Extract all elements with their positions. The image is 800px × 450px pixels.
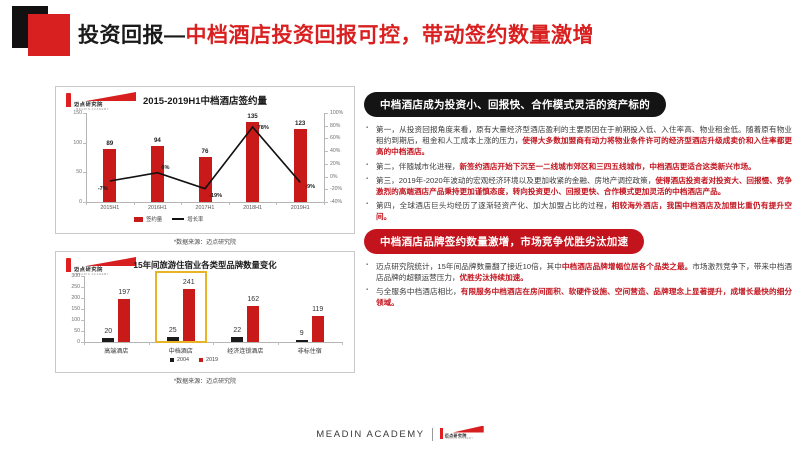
chart2-y-ticklabel: 150 xyxy=(60,306,80,312)
chart2-bar-2019 xyxy=(118,299,130,342)
chart1-y-tick-right xyxy=(325,164,328,165)
page-title: 投资回报—中档酒店投资回报可控，带动签约数量激增 xyxy=(78,19,594,49)
logo-flag-shape xyxy=(440,428,444,439)
bullet-list-2: 迈点研究院统计，15年间品牌数量翻了接近10倍，其中中档酒店品牌增幅位居各个品类… xyxy=(364,261,792,309)
chart1-y-tick-left xyxy=(83,113,86,114)
chart1-y-ticklabel-left: 0 xyxy=(64,199,82,205)
slide-root: 投资回报—中档酒店投资回报可控，带动签约数量激增 迈点研究院 MEADIN AC… xyxy=(0,0,800,450)
bullet-1-emphasis: 新签约酒店开始下沉至一二线城市郊区和三四五线城市，中档酒店更适合这类新兴市场。 xyxy=(460,162,756,171)
chart-brand-count-change: 迈点研究院 MEADIN ACADEMY 15年间旅游住宿业各类型品牌数量变化 … xyxy=(55,251,355,373)
chart1-y-ticklabel-right: 0% xyxy=(330,174,338,180)
chart1-legend-swatch-line xyxy=(172,218,184,220)
chart1-category-label: 2015H1 xyxy=(90,205,130,211)
chart2-legend-swatch-2019 xyxy=(199,358,203,362)
footer-meadin-logo-icon: 迈点研究院 MEADIN ACADEMY xyxy=(440,426,484,443)
chart1-category-label: 2016H1 xyxy=(137,205,177,211)
chart2-bar-2004 xyxy=(102,338,114,342)
footer-divider xyxy=(432,428,433,441)
chart1-y-ticklabel-right: 80% xyxy=(330,123,340,129)
chart2-x-tick xyxy=(84,342,85,345)
bullet-2-item: 迈点研究院统计，15年间品牌数量翻了接近10倍，其中中档酒店品牌增幅位居各个品类… xyxy=(364,261,792,283)
chart2-legend: 20042019 xyxy=(170,357,218,363)
chart1-category-label: 2018H1 xyxy=(233,205,273,211)
charts-column: 迈点研究院 MEADIN ACADEMY 2015-2019H1中档酒店签约量 … xyxy=(55,86,355,385)
page-title-accent: 中档酒店投资回报可控，带动签约数量激增 xyxy=(186,24,595,47)
chart1-x-tick xyxy=(86,202,87,205)
chart1-y-ticklabel-right: -20% xyxy=(330,186,342,192)
chart2-y-axis xyxy=(84,276,85,342)
chart2-y-ticklabel: 50 xyxy=(60,328,80,334)
chart2-bar-value-2004: 22 xyxy=(223,327,251,334)
chart1-y-tick-right xyxy=(325,138,328,139)
chart1-growth-label: -9% xyxy=(305,184,315,190)
section-heading-2: 中档酒店品牌签约数量激增，市场竞争优胜劣汰加速 xyxy=(364,229,644,254)
header-divider xyxy=(0,62,800,63)
chart1-legend-item-line: 增长率 xyxy=(172,215,203,223)
chart1-y-ticklabel-right: 20% xyxy=(330,161,340,167)
chart1-y-axis-left xyxy=(86,113,87,202)
chart2-y-tick xyxy=(81,287,84,288)
chart1-growth-label: -19% xyxy=(209,193,222,199)
chart2-bar-value-2004: 20 xyxy=(94,328,122,335)
chart1-bar-value: 135 xyxy=(239,113,267,120)
chart1-y-tick-left xyxy=(83,172,86,173)
chart2-highlight-box xyxy=(155,271,207,343)
chart2-y-ticklabel: 200 xyxy=(60,295,80,301)
chart1-x-tick xyxy=(276,202,277,205)
chart1-x-tick xyxy=(324,202,325,205)
bullet-2-item: 与全服务中档酒店相比，有限服务中档酒店在房间面积、软硬件设施、空间营造、品牌理念… xyxy=(364,286,792,308)
chart1-x-tick xyxy=(229,202,230,205)
chart2-bar-value-2019: 162 xyxy=(237,296,269,303)
chart1-x-tick xyxy=(181,202,182,205)
chart1-bar xyxy=(294,129,307,202)
chart2-y-tick xyxy=(81,276,84,277)
chart2-bar-value-2019: 119 xyxy=(302,306,334,313)
chart1-y-ticklabel-right: 40% xyxy=(330,148,340,154)
chart1-y-ticklabel-left: 100 xyxy=(64,140,82,146)
chart1-y-tick-right xyxy=(325,189,328,190)
chart1-y-tick-left xyxy=(83,143,86,144)
bullet-1-item: 第四，全球酒店巨头均经历了逐渐轻资产化、加大加盟占比的过程，相较海外酒店，我国中… xyxy=(364,200,792,222)
page-title-plain: 投资回报— xyxy=(78,24,186,47)
bullet-1-item: 第三，2019年-2020年波动的宏观经济环境以及更加收紧的金融、房地产调控政策… xyxy=(364,175,792,197)
chart2-bar-2019 xyxy=(312,316,324,342)
chart2-y-ticklabel: 250 xyxy=(60,284,80,290)
chart2-legend-item-2004: 2004 xyxy=(170,357,189,363)
chart2-category-label: 非标住宿 xyxy=(278,346,342,355)
section-heading-1: 中档酒店成为投资小、回报快、合作模式灵活的资产标的 xyxy=(364,92,666,117)
chart1-growth-label: -7% xyxy=(98,186,108,192)
chart1-y-ticklabel-left: 50 xyxy=(64,169,82,175)
chart-signings-volume: 迈点研究院 MEADIN ACADEMY 2015-2019H1中档酒店签约量 … xyxy=(55,86,355,234)
chart1-x-tick xyxy=(134,202,135,205)
logo-swoosh-shape xyxy=(453,426,484,433)
bullet-2-emphasis-2: 优胜劣汰持续加速。 xyxy=(460,273,528,282)
footer-brand-name: MEADIN ACADEMY xyxy=(316,429,424,440)
chart1-bar-value: 123 xyxy=(286,120,314,127)
chart1-y-ticklabel-right: -40% xyxy=(330,199,342,205)
chart1-bar xyxy=(103,149,116,202)
chart2-y-ticklabel: 100 xyxy=(60,317,80,323)
bullet-1-text: 第四，全球酒店巨头均经历了逐渐轻资产化、加大加盟占比的过程， xyxy=(376,201,612,210)
chart1-legend-item-bar: 签约量 xyxy=(134,215,162,223)
chart2-legend-swatch-2004 xyxy=(170,358,174,362)
chart1-bar xyxy=(246,122,259,202)
chart2-category-label: 中档酒店 xyxy=(149,346,213,355)
chart1-y-tick-right xyxy=(325,202,328,203)
chart1-y-ticklabel-left: 150 xyxy=(64,110,82,116)
slide-header: 投资回报—中档酒店投资回报可控，带动签约数量激增 xyxy=(0,0,800,62)
chart2-x-tick xyxy=(342,342,343,345)
chart2-x-tick xyxy=(149,342,150,345)
chart2-legend-label-2019: 2019 xyxy=(206,357,218,363)
chart2-legend-item-2019: 2019 xyxy=(199,357,218,363)
chart2-bar-2019 xyxy=(247,306,259,342)
chart2-category-label: 高端酒店 xyxy=(84,346,148,355)
chart2-category-label: 经济连锁酒店 xyxy=(213,346,277,355)
chart1-bar-value: 76 xyxy=(191,148,219,155)
chart1-y-ticklabel-right: 60% xyxy=(330,135,340,141)
chart1-source: *数据来源：迈点研究院 xyxy=(55,237,355,246)
chart1-bar xyxy=(151,146,164,202)
chart2-y-tick xyxy=(81,309,84,310)
chart2-x-tick xyxy=(278,342,279,345)
chart2-x-tick xyxy=(213,342,214,345)
chart1-legend-label-bar: 签约量 xyxy=(146,215,162,223)
chart2-y-ticklabel: 0 xyxy=(60,339,80,345)
chart1-bar-value: 89 xyxy=(96,140,124,147)
chart1-y-tick-right xyxy=(325,126,328,127)
chart2-plot-area: 05010015020025030020197高端酒店25241中档酒店2216… xyxy=(56,252,356,374)
chart1-legend: 签约量增长率 xyxy=(134,215,203,223)
chart1-x-axis xyxy=(86,202,324,203)
chart1-bar-value: 94 xyxy=(143,137,171,144)
chart2-bar-value-2004: 9 xyxy=(288,330,316,337)
chart2-y-tick xyxy=(81,320,84,321)
bullet-list-1: 第一，从投资回报角度来看，原有大量经济型酒店盈利的主要原因在于前期投入低、入住率… xyxy=(364,124,792,223)
chart2-bar-2004 xyxy=(231,337,243,342)
bullet-1-item: 第一，从投资回报角度来看，原有大量经济型酒店盈利的主要原因在于前期投入低、入住率… xyxy=(364,124,792,158)
chart2-bar-value-2019: 197 xyxy=(108,289,140,296)
chart1-category-label: 2019H1 xyxy=(280,205,320,211)
slide-footer: MEADIN ACADEMY 迈点研究院 MEADIN ACADEMY xyxy=(0,418,800,450)
chart2-source: *数据来源：迈点研究院 xyxy=(55,376,355,385)
bullet-1-text: 第二，伴随城市化进程， xyxy=(376,162,460,171)
chart1-y-ticklabel-right: 100% xyxy=(330,110,343,116)
chart1-legend-label-line: 增长率 xyxy=(187,215,203,223)
chart1-plot-area: 050100150-40%-20%0%20%40%60%80%100%89201… xyxy=(56,87,356,235)
header-red-square xyxy=(28,14,70,56)
bullet-1-item: 第二，伴随城市化进程，新签约酒店开始下沉至一二线城市郊区和三四五线城市，中档酒店… xyxy=(364,161,792,172)
logo-subtitle: MEADIN ACADEMY xyxy=(446,438,474,440)
chart2-bar-2004 xyxy=(296,340,308,342)
chart2-legend-label-2004: 2004 xyxy=(177,357,189,363)
chart2-y-ticklabel: 300 xyxy=(60,273,80,279)
chart1-y-tick-right xyxy=(325,151,328,152)
analysis-column: 中档酒店成为投资小、回报快、合作模式灵活的资产标的 第一，从投资回报角度来看，原… xyxy=(364,92,792,311)
chart1-category-label: 2017H1 xyxy=(185,205,225,211)
chart1-growth-label: 78% xyxy=(258,125,269,131)
chart1-y-tick-right xyxy=(325,113,328,114)
bullet-1-text: 第三，2019年-2020年波动的宏观经济环境以及更加收紧的金融、房地产调控政策… xyxy=(376,176,655,185)
chart2-y-tick xyxy=(81,298,84,299)
chart1-growth-label: 6% xyxy=(161,165,169,171)
chart2-y-tick xyxy=(81,331,84,332)
chart1-y-tick-right xyxy=(325,177,328,178)
bullet-2-text: 迈点研究院统计，15年间品牌数量翻了接近10倍，其中 xyxy=(376,262,562,271)
bullet-2-text: 与全服务中档酒店相比， xyxy=(376,287,461,296)
chart1-legend-swatch-bar xyxy=(134,217,143,222)
bullet-2-emphasis: 中档酒店品牌增幅位居各个品类之最。 xyxy=(562,262,692,271)
